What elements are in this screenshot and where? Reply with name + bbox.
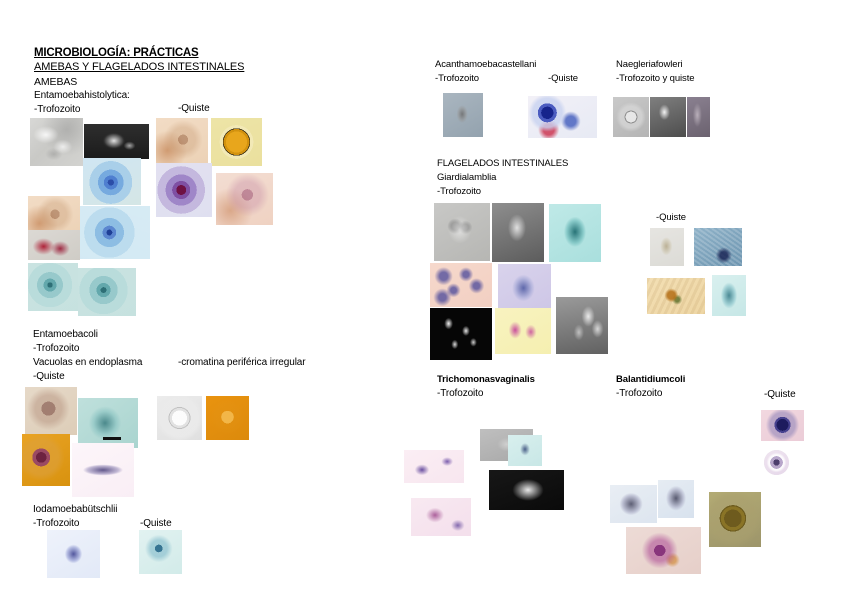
photo-eh-cyst-violet (156, 163, 212, 217)
photo-balantidium-cyst-brown (709, 492, 761, 547)
photo-eh-cyst-iodine-yellow (211, 118, 262, 166)
species-acanthamoeba: Acanthamoebacastellani (435, 60, 536, 70)
label-ac-quiste: -Quiste (548, 74, 578, 84)
photo-giardia-cyst-teal (712, 275, 746, 316)
photo-eh-darkfield (84, 124, 149, 159)
label-ec-trofozoito: -Trofozoito (33, 344, 79, 355)
photo-ec-trophozoite-teal (78, 398, 138, 448)
photo-iodamoeba-trophozoite (47, 530, 100, 578)
slide-canvas: MICROBIOLOGÍA: PRÁCTICAS AMEBAS Y FLAGEL… (0, 0, 848, 599)
photo-eh-erythrophagocytosis (28, 230, 80, 260)
species-giardia: Giardialamblia (437, 173, 496, 183)
photo-iodamoeba-cyst (139, 530, 182, 574)
note-cromatina-periferica: -cromatina periférica irregular (178, 358, 306, 369)
photo-giardia-darkfield (430, 308, 492, 360)
label-ec-quiste: -Quiste (33, 372, 65, 383)
photo-giardia-yellow-field (495, 308, 551, 354)
photo-acanthamoeba-trophozoite (443, 93, 483, 137)
photo-giardia-salmon-field (430, 263, 492, 307)
label-giardia-quiste: -Quiste (656, 213, 686, 223)
photo-eh-cyst-iodine-tan (156, 118, 208, 163)
photo-giardia-dic (492, 203, 544, 262)
page-title: MICROBIOLOGÍA: PRÁCTICAS (34, 47, 199, 59)
photo-eh-iron-hematoxylin-2 (78, 268, 136, 316)
note-vacuolas-endoplasma: Vacuolas en endoplasma (33, 358, 142, 369)
species-iodamoeba: Iodamoebabütschlii (33, 505, 117, 516)
photo-trichomonas-giemsa-2 (411, 498, 471, 536)
photo-ec-trophozoite-brown (25, 387, 77, 435)
photo-giardia-lavender (498, 264, 551, 312)
species-entamoeba-histolytica: Entamoebahistolytica: (34, 91, 130, 102)
label-iod-trofozoito: -Trofozoito (33, 519, 79, 530)
photo-acanthamoeba-cyst (528, 96, 597, 138)
photo-eh-iron-hematoxylin-1 (28, 263, 78, 311)
photo-trichomonas-sem-dark (489, 470, 564, 510)
photo-giardia-cyst-blue-granular (694, 228, 742, 266)
label-ac-trofozoito: -Trofozoito (435, 74, 479, 84)
label-bc-quiste: -Quiste (764, 390, 796, 401)
photo-balantidium-cyst-violet (761, 410, 804, 441)
photo-eh-cyst-pink-tan (216, 173, 273, 225)
label-tv-trofozoito: -Trofozoito (437, 389, 483, 400)
page-subtitle: AMEBAS Y FLAGELADOS INTESTINALES (34, 62, 244, 74)
photo-giardia-phase (434, 203, 490, 261)
photo-naegleria-cyst (613, 97, 649, 137)
label-bc-trofozoito: -Trofozoito (616, 389, 662, 400)
species-trichomonas: Trichomonasvaginalis (437, 375, 535, 385)
photo-balantidium-cyst-small (764, 450, 789, 475)
photo-trichomonas-giemsa-1 (404, 450, 464, 483)
photo-giardia-teal-stain (549, 204, 601, 262)
section-heading-flagelados: FLAGELADOS INTESTINALES (437, 159, 568, 169)
photo-ec-trophozoite-orange (22, 434, 70, 486)
photo-giardia-cyst-wet-mount (650, 228, 684, 266)
photo-balantidium-trophozoite-1 (610, 485, 657, 523)
photo-trichomonas-cyan (508, 435, 542, 466)
photo-eh-iodine-mount (28, 196, 80, 234)
section-heading-amebas: AMEBAS (34, 77, 77, 88)
photo-eh-trophozoite-phase (30, 118, 83, 166)
species-naegleria: Naegleriafowleri (616, 60, 683, 70)
photo-balantidium-trophozoite-pink (626, 527, 701, 574)
label-eh-trofozoito: -Trofozoito (34, 105, 80, 116)
label-iod-quiste: -Quiste (140, 519, 172, 530)
label-eh-quiste: -Quiste (178, 104, 210, 115)
label-naegleria-combined: -Trofozoito y quiste (616, 74, 694, 84)
photo-ec-bacillus-lavender (72, 443, 134, 497)
photo-naegleria-flagellate (687, 97, 710, 137)
photo-giardia-sem (556, 297, 608, 354)
species-balantidium: Balantidiumcoli (616, 375, 685, 385)
photo-eh-trichrome (83, 158, 141, 205)
label-giardia-trofozoito: -Trofozoito (437, 187, 481, 197)
photo-balantidium-trophozoite-2 (658, 480, 694, 518)
species-entamoeba-coli: Entamoebacoli (33, 330, 98, 341)
photo-ec-cyst-orange (206, 396, 249, 440)
photo-eh-trichrome-nucleus (80, 206, 150, 259)
photo-naegleria-trophozoite (650, 97, 686, 137)
scale-bar (103, 437, 121, 440)
photo-ec-cyst-gray (157, 396, 202, 440)
photo-giardia-cyst-iodine-tan (647, 278, 705, 314)
